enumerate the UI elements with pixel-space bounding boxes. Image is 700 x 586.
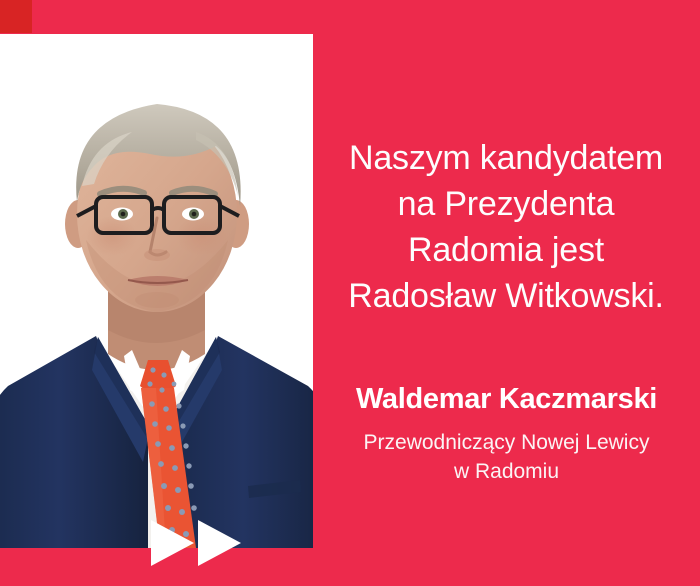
- campaign-poster: Naszym kandydatem na Prezydenta Radomia …: [0, 0, 700, 586]
- person-role-line-1: Przewodniczący Nowej Lewicy: [313, 428, 700, 457]
- text-column: Naszym kandydatem na Prezydenta Radomia …: [313, 0, 700, 586]
- person-role-line-2: w Radomiu: [313, 457, 700, 486]
- chevron-right-icon-2: [198, 520, 241, 566]
- person-name: Waldemar Kaczmarski: [313, 383, 700, 416]
- headline-line-4: Radosław Witkowski.: [310, 273, 700, 319]
- double-chevron-right-icon: [151, 520, 241, 566]
- headline-line-2: na Prezydenta: [310, 181, 700, 227]
- portrait-illustration: [0, 34, 313, 548]
- chevron-right-icon-1: [151, 520, 194, 566]
- headline-line-1: Naszym kandydatem: [310, 135, 700, 181]
- headline-line-3: Radomia jest: [310, 227, 700, 273]
- person-role: Przewodniczący Nowej Lewicy w Radomiu: [313, 428, 700, 486]
- headline: Naszym kandydatem na Prezydenta Radomia …: [310, 135, 700, 319]
- candidate-photo: [0, 34, 313, 548]
- corner-accent-block: [0, 0, 32, 33]
